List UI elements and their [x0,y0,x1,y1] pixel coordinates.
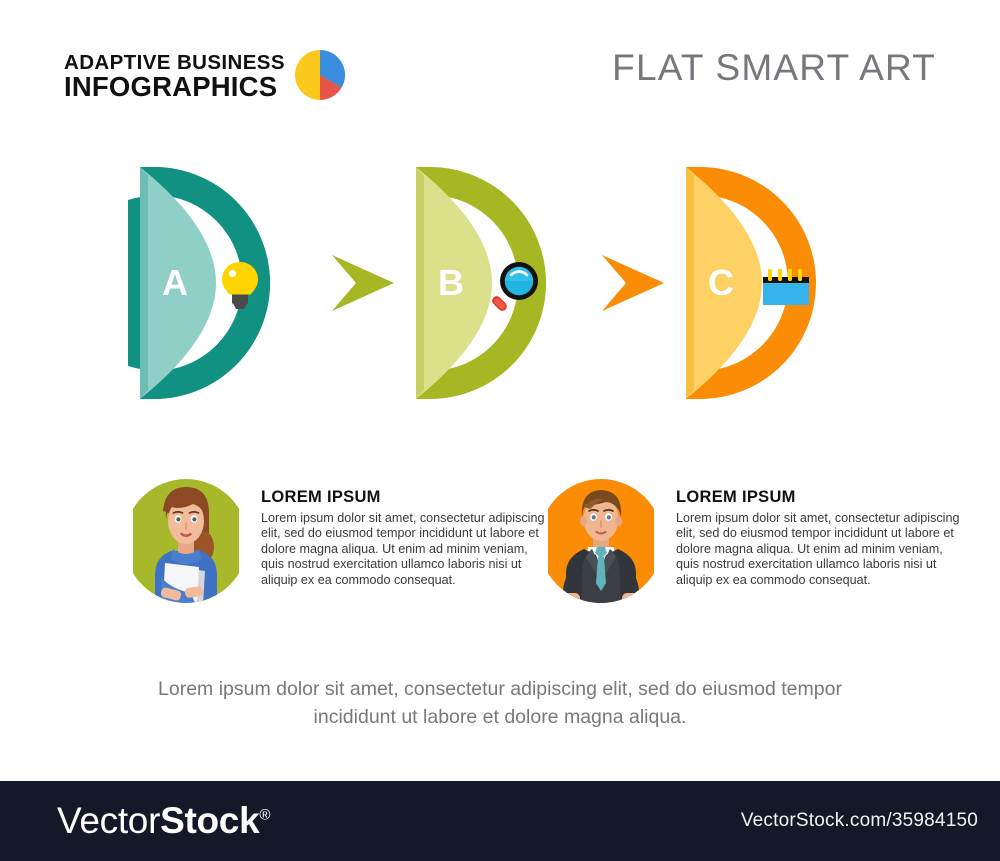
brand-logo-block: ADAPTIVE BUSINESS INFOGRAPHICS [64,48,346,106]
vectorstock-url: VectorStock.com/35984150 [741,810,978,832]
magnifier-icon [486,255,546,315]
person-2-body: Lorem ipsum dolor sit amet, consectetur … [676,511,968,588]
person-block-1: LOREM IPSUM Lorem ipsum dolor sit amet, … [133,477,553,609]
person-block-2: LOREM IPSUM Lorem ipsum dolor sit amet, … [548,477,968,609]
step-c-letter: C [696,265,746,301]
brand-wordmark: ADAPTIVE BUSINESS INFOGRAPHICS [64,53,285,102]
person-2-title: LOREM IPSUM [676,488,968,506]
watermark-bar: VectorStock® VectorStock.com/35984150 [0,781,1000,861]
page-title: FLAT SMART ART [612,47,936,89]
brand-line-1: ADAPTIVE BUSINESS [64,53,285,74]
step-c[interactable]: C [674,163,912,403]
woman-avatar [133,477,239,605]
arrow-b-to-c [596,251,668,315]
person-1-title: LOREM IPSUM [261,488,553,506]
step-a-letter: A [150,265,200,301]
steps-row: A B [0,163,1000,423]
man-avatar [548,477,654,605]
calendar-icon [756,255,816,315]
vectorstock-logo: VectorStock® [57,800,270,842]
arrow-a-to-b [326,251,398,315]
vectorstock-logo-bold: Stock [160,800,259,841]
lightbulb-icon [210,255,270,315]
person-2-text: LOREM IPSUM Lorem ipsum dolor sit amet, … [676,488,968,588]
person-1-text: LOREM IPSUM Lorem ipsum dolor sit amet, … [261,488,553,588]
vectorstock-logo-light: Vector [57,800,160,841]
infographic-canvas: ADAPTIVE BUSINESS INFOGRAPHICS FLAT SMAR… [0,0,1000,781]
registered-trademark-icon: ® [259,807,270,824]
step-b-letter: B [426,265,476,301]
brand-line-2: INFOGRAPHICS [64,73,285,101]
footer-caption: Lorem ipsum dolor sit amet, consectetur … [120,675,880,731]
person-1-body: Lorem ipsum dolor sit amet, consectetur … [261,511,553,588]
pie-chart-icon [294,49,346,106]
